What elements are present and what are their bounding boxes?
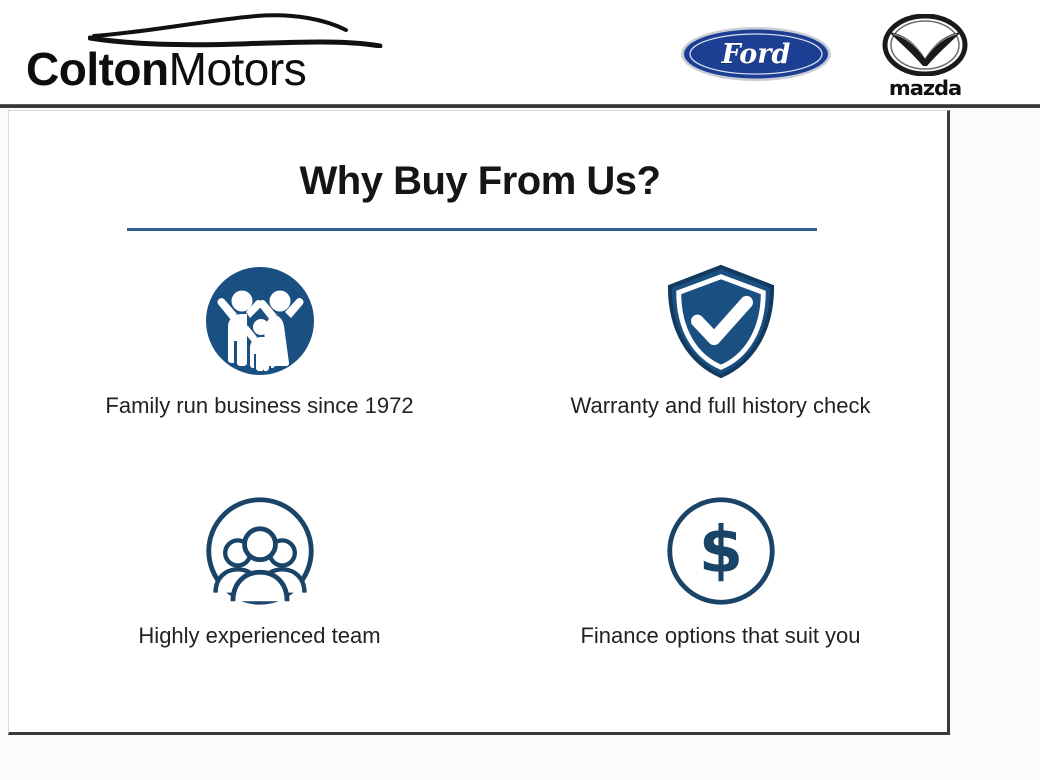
ford-oval-shape <box>680 26 832 82</box>
svg-text:$: $ <box>698 514 742 588</box>
features-grid: Family run business since 1972 Warranty … <box>9 259 951 709</box>
team-group-icon <box>201 495 319 607</box>
feature-family-run-business: Family run business since 1972 <box>29 259 490 479</box>
brand-wordmark: ColtonMotors <box>26 38 386 100</box>
brand-name-light: Motors <box>169 43 307 95</box>
brand-name-strong: Colton <box>26 43 169 95</box>
feature-finance-options: $ Finance options that suit you <box>490 489 951 709</box>
dollar-circle-icon: $ <box>662 495 780 607</box>
page-header: ColtonMotors Ford mazda <box>0 0 1040 107</box>
family-icon <box>201 265 319 377</box>
shield-check-icon <box>662 265 780 377</box>
why-buy-from-us-card: Why Buy From Us? <box>8 110 950 735</box>
header-divider <box>0 104 1040 108</box>
mazda-logo[interactable]: mazda <box>869 14 981 100</box>
feature-experienced-team: Highly experienced team <box>29 489 490 709</box>
feature-warranty-history-check: Warranty and full history check <box>490 259 951 479</box>
colton-motors-logo[interactable]: ColtonMotors <box>26 8 386 100</box>
title-underline <box>127 228 817 231</box>
feature-label: Finance options that suit you <box>551 619 891 652</box>
mazda-wing-icon <box>869 14 981 76</box>
ford-oval-logo[interactable]: Ford <box>680 26 832 82</box>
page-title: Why Buy From Us? <box>9 159 951 204</box>
feature-label: Warranty and full history check <box>551 389 891 422</box>
feature-label: Family run business since 1972 <box>90 389 430 422</box>
feature-label: Highly experienced team <box>90 619 430 652</box>
mazda-wordmark: mazda <box>866 76 984 100</box>
